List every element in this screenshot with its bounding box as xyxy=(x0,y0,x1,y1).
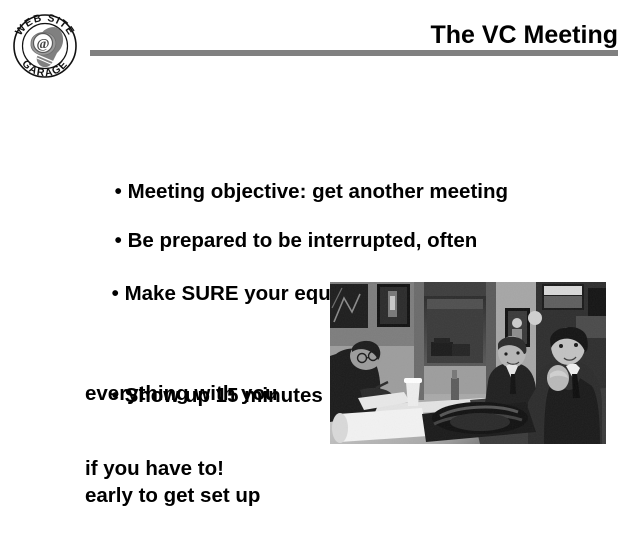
bullet-marker-icon: • xyxy=(112,281,125,306)
svg-text:@: @ xyxy=(36,37,49,52)
list-item: •Show up 15 minutes early to get set up xyxy=(66,308,323,558)
bullet-text: Show up 15 minutes xyxy=(125,384,323,407)
meeting-photo xyxy=(330,282,606,444)
presentation-slide: @ WEB SITE GARAGE The VC Meeting •Meetin… xyxy=(0,0,640,480)
title-divider xyxy=(90,50,618,56)
web-site-garage-logo: @ WEB SITE GARAGE xyxy=(8,6,82,82)
page-title: The VC Meeting xyxy=(430,22,618,48)
bullet-text-continuation: early to get set up xyxy=(66,483,323,508)
bullet-marker-icon: • xyxy=(112,383,125,408)
